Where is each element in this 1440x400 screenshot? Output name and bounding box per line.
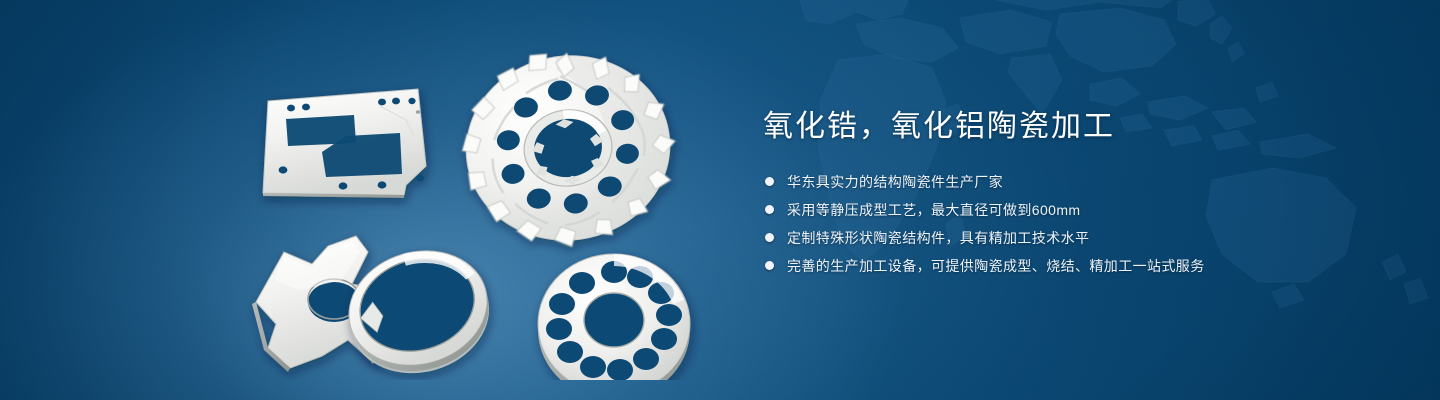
product-photo-cluster [230,40,700,380]
bullet-dot-icon [765,177,774,186]
feature-item-2-label: 采用等静压成型工艺，最大直径可做到600mm [787,200,1080,220]
banner-headline: 氧化锆，氧化铝陶瓷加工 [763,108,1383,146]
feature-item-1: 华东具实力的结构陶瓷件生产厂家 [765,172,1383,192]
bullet-dot-icon [765,233,774,242]
feature-item-1-label: 华东具实力的结构陶瓷件生产厂家 [787,172,1003,192]
feature-item-3-label: 定制特殊形状陶瓷结构件，具有精加工技术水平 [787,228,1089,248]
ceramic-perforated-disc [538,254,690,380]
ceramic-flat-plate [263,89,426,198]
ceramic-impeller-disc [451,40,688,260]
feature-list: 华东具实力的结构陶瓷件生产厂家 采用等静压成型工艺，最大直径可做到600mm 定… [765,172,1383,276]
feature-item-4-label: 完善的生产加工设备，可提供陶瓷成型、烧结、精加工一站式服务 [787,256,1205,276]
promo-banner: 氧化锆，氧化铝陶瓷加工 华东具实力的结构陶瓷件生产厂家 采用等静压成型工艺，最大… [0,0,1440,400]
bullet-dot-icon [765,261,774,270]
feature-item-2: 采用等静压成型工艺，最大直径可做到600mm [765,200,1383,220]
bullet-dot-icon [765,205,774,214]
feature-item-3: 定制特殊形状陶瓷结构件，具有精加工技术水平 [765,228,1383,248]
feature-item-4: 完善的生产加工设备，可提供陶瓷成型、烧结、精加工一站式服务 [765,256,1383,276]
banner-text-column: 氧化锆，氧化铝陶瓷加工 华东具实力的结构陶瓷件生产厂家 采用等静压成型工艺，最大… [763,108,1383,276]
